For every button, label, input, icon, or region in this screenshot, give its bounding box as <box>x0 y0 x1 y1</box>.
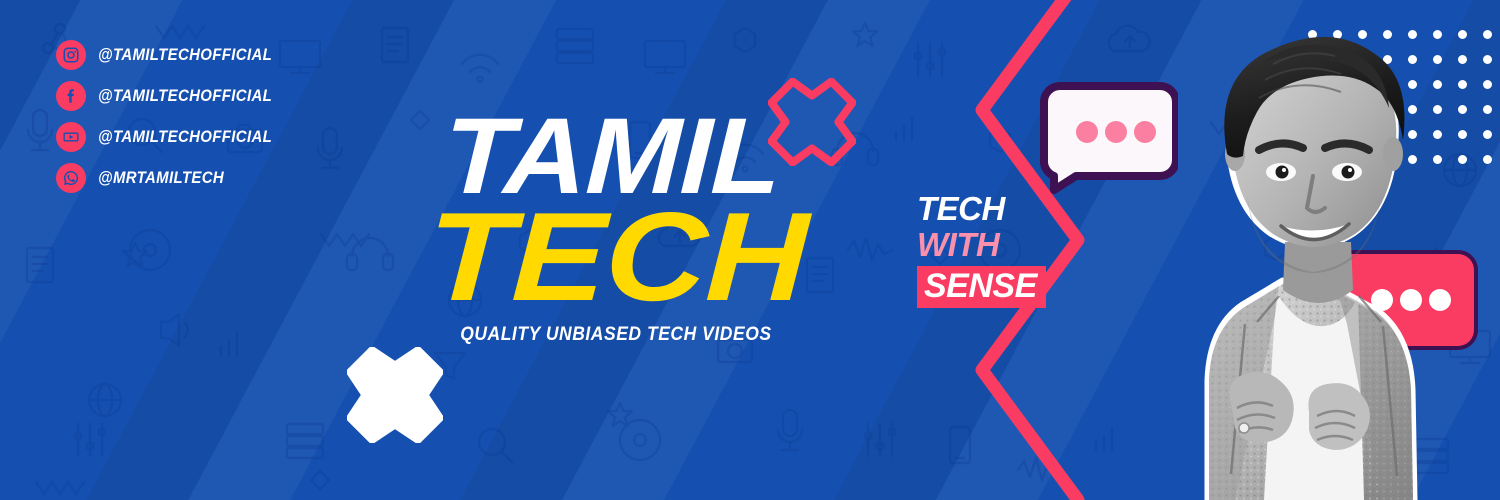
brand-tagline: QUALITY UNBIASED TECH VIDEOS <box>460 324 764 346</box>
slogan-line1: TECH <box>917 192 1043 225</box>
social-row-facebook[interactable]: @TAMILTECHOFFICIAL <box>56 79 296 113</box>
social-row-instagram[interactable]: @TAMILTECHOFFICIAL <box>56 38 296 72</box>
social-handle-whatsapp: @MRTAMILTECH <box>98 168 224 188</box>
social-handle-youtube: @TAMILTECHOFFICIAL <box>98 127 272 147</box>
social-links-list: @TAMILTECHOFFICIAL @TAMILTECHOFFICIAL @T… <box>56 38 296 202</box>
youtube-icon[interactable] <box>56 122 86 152</box>
brand-logo: TAMIL TECH QUALITY UNBIASED TECH VIDEOS <box>447 112 777 346</box>
channel-banner: @TAMILTECHOFFICIAL @TAMILTECHOFFICIAL @T… <box>0 0 1500 500</box>
x-mark-white-icon <box>347 347 443 443</box>
slogan-line3: SENSE <box>917 266 1046 308</box>
social-row-whatsapp[interactable]: @MRTAMILTECH <box>56 161 296 195</box>
social-handle-instagram: @TAMILTECHOFFICIAL <box>98 45 272 65</box>
social-handle-facebook: @TAMILTECHOFFICIAL <box>98 86 272 106</box>
facebook-icon[interactable] <box>56 81 86 111</box>
slogan-block: TECH WITH SENSE <box>917 192 1043 308</box>
whatsapp-icon[interactable] <box>56 163 86 193</box>
instagram-icon[interactable] <box>56 40 86 70</box>
brand-title-line2: TECH <box>425 205 799 308</box>
slogan-line2: WITH <box>917 228 1043 261</box>
social-row-youtube[interactable]: @TAMILTECHOFFICIAL <box>56 120 296 154</box>
presenter-portrait <box>1113 4 1453 500</box>
